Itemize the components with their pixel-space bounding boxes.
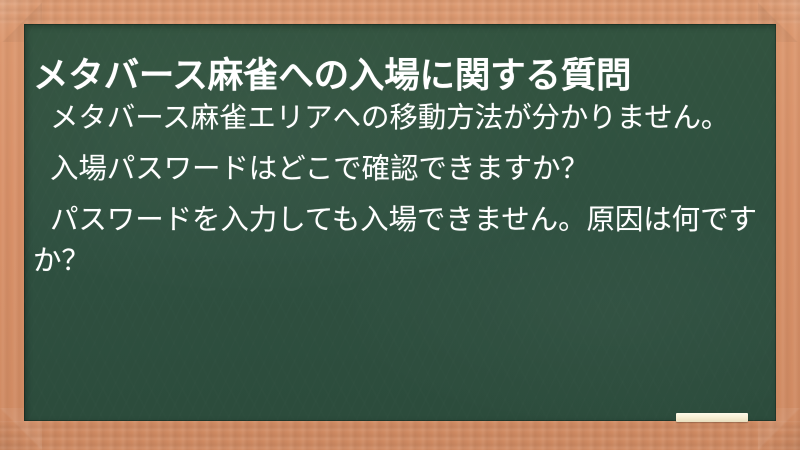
- chalk-stick-icon: [676, 413, 748, 422]
- chalkboard-surface: メタバース麻雀への入場に関する質問 メタバース麻雀エリアへの移動方法が分かりませ…: [24, 24, 776, 421]
- list-item: 入場パスワードはどこで確認できますか？: [33, 149, 757, 190]
- slide-title: メタバース麻雀への入場に関する質問: [33, 50, 768, 100]
- frame-rail-bottom: [0, 421, 800, 450]
- question-list: メタバース麻雀エリアへの移動方法が分かりません。 入場パスワードはどこで確認でき…: [33, 98, 757, 282]
- list-item: パスワードを入力しても入場できません。原因は何ですか？: [33, 200, 757, 282]
- list-item: メタバース麻雀エリアへの移動方法が分かりません。: [33, 98, 757, 139]
- chalkboard-slide: メタバース麻雀への入場に関する質問 メタバース麻雀エリアへの移動方法が分かりませ…: [0, 0, 800, 450]
- frame-rail-top: [0, 0, 800, 24]
